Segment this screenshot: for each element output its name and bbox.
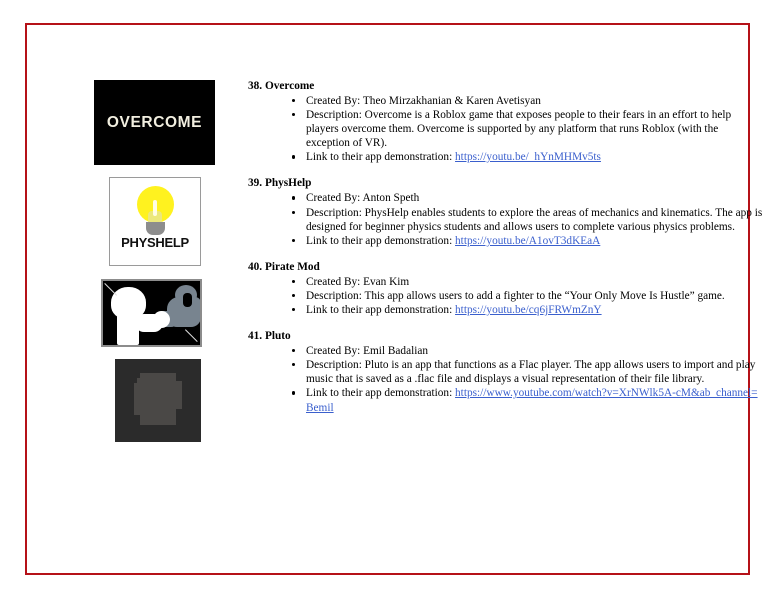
link-item: Link to their app demonstration: https:/… <box>248 234 763 248</box>
created-by-text: Created By: Theo Mirzakhanian & Karen Av… <box>306 95 541 107</box>
created-by-item: Created By: Theo Mirzakhanian & Karen Av… <box>248 94 763 108</box>
physhelp-thumbnail-image[interactable]: PHYSHELP <box>109 177 201 266</box>
entry-bullet-list: Created By: Evan Kim Description: This a… <box>248 275 763 317</box>
physhelp-wordmark: PHYSHELP <box>110 235 200 250</box>
entry-pirate-mod: 40. Pirate Mod Created By: Evan Kim Desc… <box>248 260 763 317</box>
pirate-mod-thumbnail-image[interactable] <box>101 279 202 347</box>
entry-heading: 41. Pluto <box>248 329 763 343</box>
demo-link[interactable]: https://youtu.be/_hYnMHMv5ts <box>455 151 601 163</box>
description-text: Description: PhysHelp enables students t… <box>306 207 762 233</box>
bullet-dot-icon <box>292 349 295 352</box>
entry-heading: 40. Pirate Mod <box>248 260 763 274</box>
link-label: Link to their app demonstration: <box>306 151 455 163</box>
entry-bullet-list: Created By: Theo Mirzakhanian & Karen Av… <box>248 94 763 164</box>
created-by-text: Created By: Emil Badalian <box>306 345 428 357</box>
pluto-thumbnail-image[interactable] <box>115 359 201 442</box>
created-by-item: Created By: Evan Kim <box>248 275 763 289</box>
entry-bullet-list: Created By: Anton Speth Description: Phy… <box>248 191 763 247</box>
link-label: Link to their app demonstration: <box>306 235 455 247</box>
entry-heading: 39. PhysHelp <box>248 176 763 190</box>
description-item: Description: This app allows users to ad… <box>248 289 763 303</box>
description-item: Description: Overcome is a Roblox game t… <box>248 108 763 150</box>
bullet-dot-icon <box>292 196 295 199</box>
bullet-dot-icon <box>292 294 295 297</box>
overcome-thumbnail-image[interactable]: OVERCOME <box>94 80 215 165</box>
description-text: Description: This app allows users to ad… <box>306 290 725 302</box>
demo-link[interactable]: https://youtu.be/cq6jFRWmZnY <box>455 304 602 316</box>
bullet-dot-icon <box>292 308 295 311</box>
bullet-dot-icon <box>292 99 295 102</box>
bullet-dot-icon <box>292 239 295 242</box>
secondary-figure-notch <box>183 293 192 307</box>
bullet-dot-icon <box>292 363 295 366</box>
entry-bullet-list: Created By: Emil Badalian Description: P… <box>248 344 763 414</box>
description-item: Description: PhysHelp enables students t… <box>248 206 763 234</box>
entry-physhelp: 39. PhysHelp Created By: Anton Speth Des… <box>248 176 763 247</box>
primary-figure-fist <box>153 311 170 328</box>
link-item: Link to their app demonstration: https:/… <box>248 303 763 317</box>
link-item: Link to their app demonstration: https:/… <box>248 386 763 414</box>
bullet-dot-icon <box>292 391 295 394</box>
selection-handle-bottom-right-icon[interactable] <box>184 329 197 342</box>
created-by-item: Created By: Anton Speth <box>248 191 763 205</box>
description-item: Description: Pluto is an app that functi… <box>248 358 763 386</box>
bullet-dot-icon <box>292 211 295 214</box>
entry-heading: 38. Overcome <box>248 79 763 93</box>
link-label: Link to their app demonstration: <box>306 304 455 316</box>
bullet-dot-icon <box>292 280 295 283</box>
demo-link[interactable]: https://youtu.be/A1ovT3dKEaA <box>455 235 600 247</box>
entry-overcome: 38. Overcome Created By: Theo Mirzakhani… <box>248 79 763 164</box>
description-text: Description: Pluto is an app that functi… <box>306 359 755 385</box>
link-item: Link to their app demonstration: https:/… <box>248 150 763 164</box>
lightbulb-base-icon <box>146 222 165 235</box>
overcome-wordmark: OVERCOME <box>107 114 202 132</box>
bullet-dot-icon <box>292 113 295 116</box>
document-page: OVERCOME PHYSHELP <box>0 0 776 600</box>
created-by-item: Created By: Emil Badalian <box>248 344 763 358</box>
entry-pluto: 41. Pluto Created By: Emil Badalian Desc… <box>248 329 763 414</box>
bullet-dot-icon <box>292 155 295 158</box>
page-border-frame: OVERCOME PHYSHELP <box>25 23 750 575</box>
created-by-text: Created By: Evan Kim <box>306 276 409 288</box>
link-label: Link to their app demonstration: <box>306 387 455 399</box>
pluto-blob-core <box>140 373 176 425</box>
entries-list: 38. Overcome Created By: Theo Mirzakhani… <box>248 79 763 427</box>
created-by-text: Created By: Anton Speth <box>306 192 419 204</box>
description-text: Description: Overcome is a Roblox game t… <box>306 109 731 149</box>
lightbulb-filament-icon <box>153 200 157 216</box>
